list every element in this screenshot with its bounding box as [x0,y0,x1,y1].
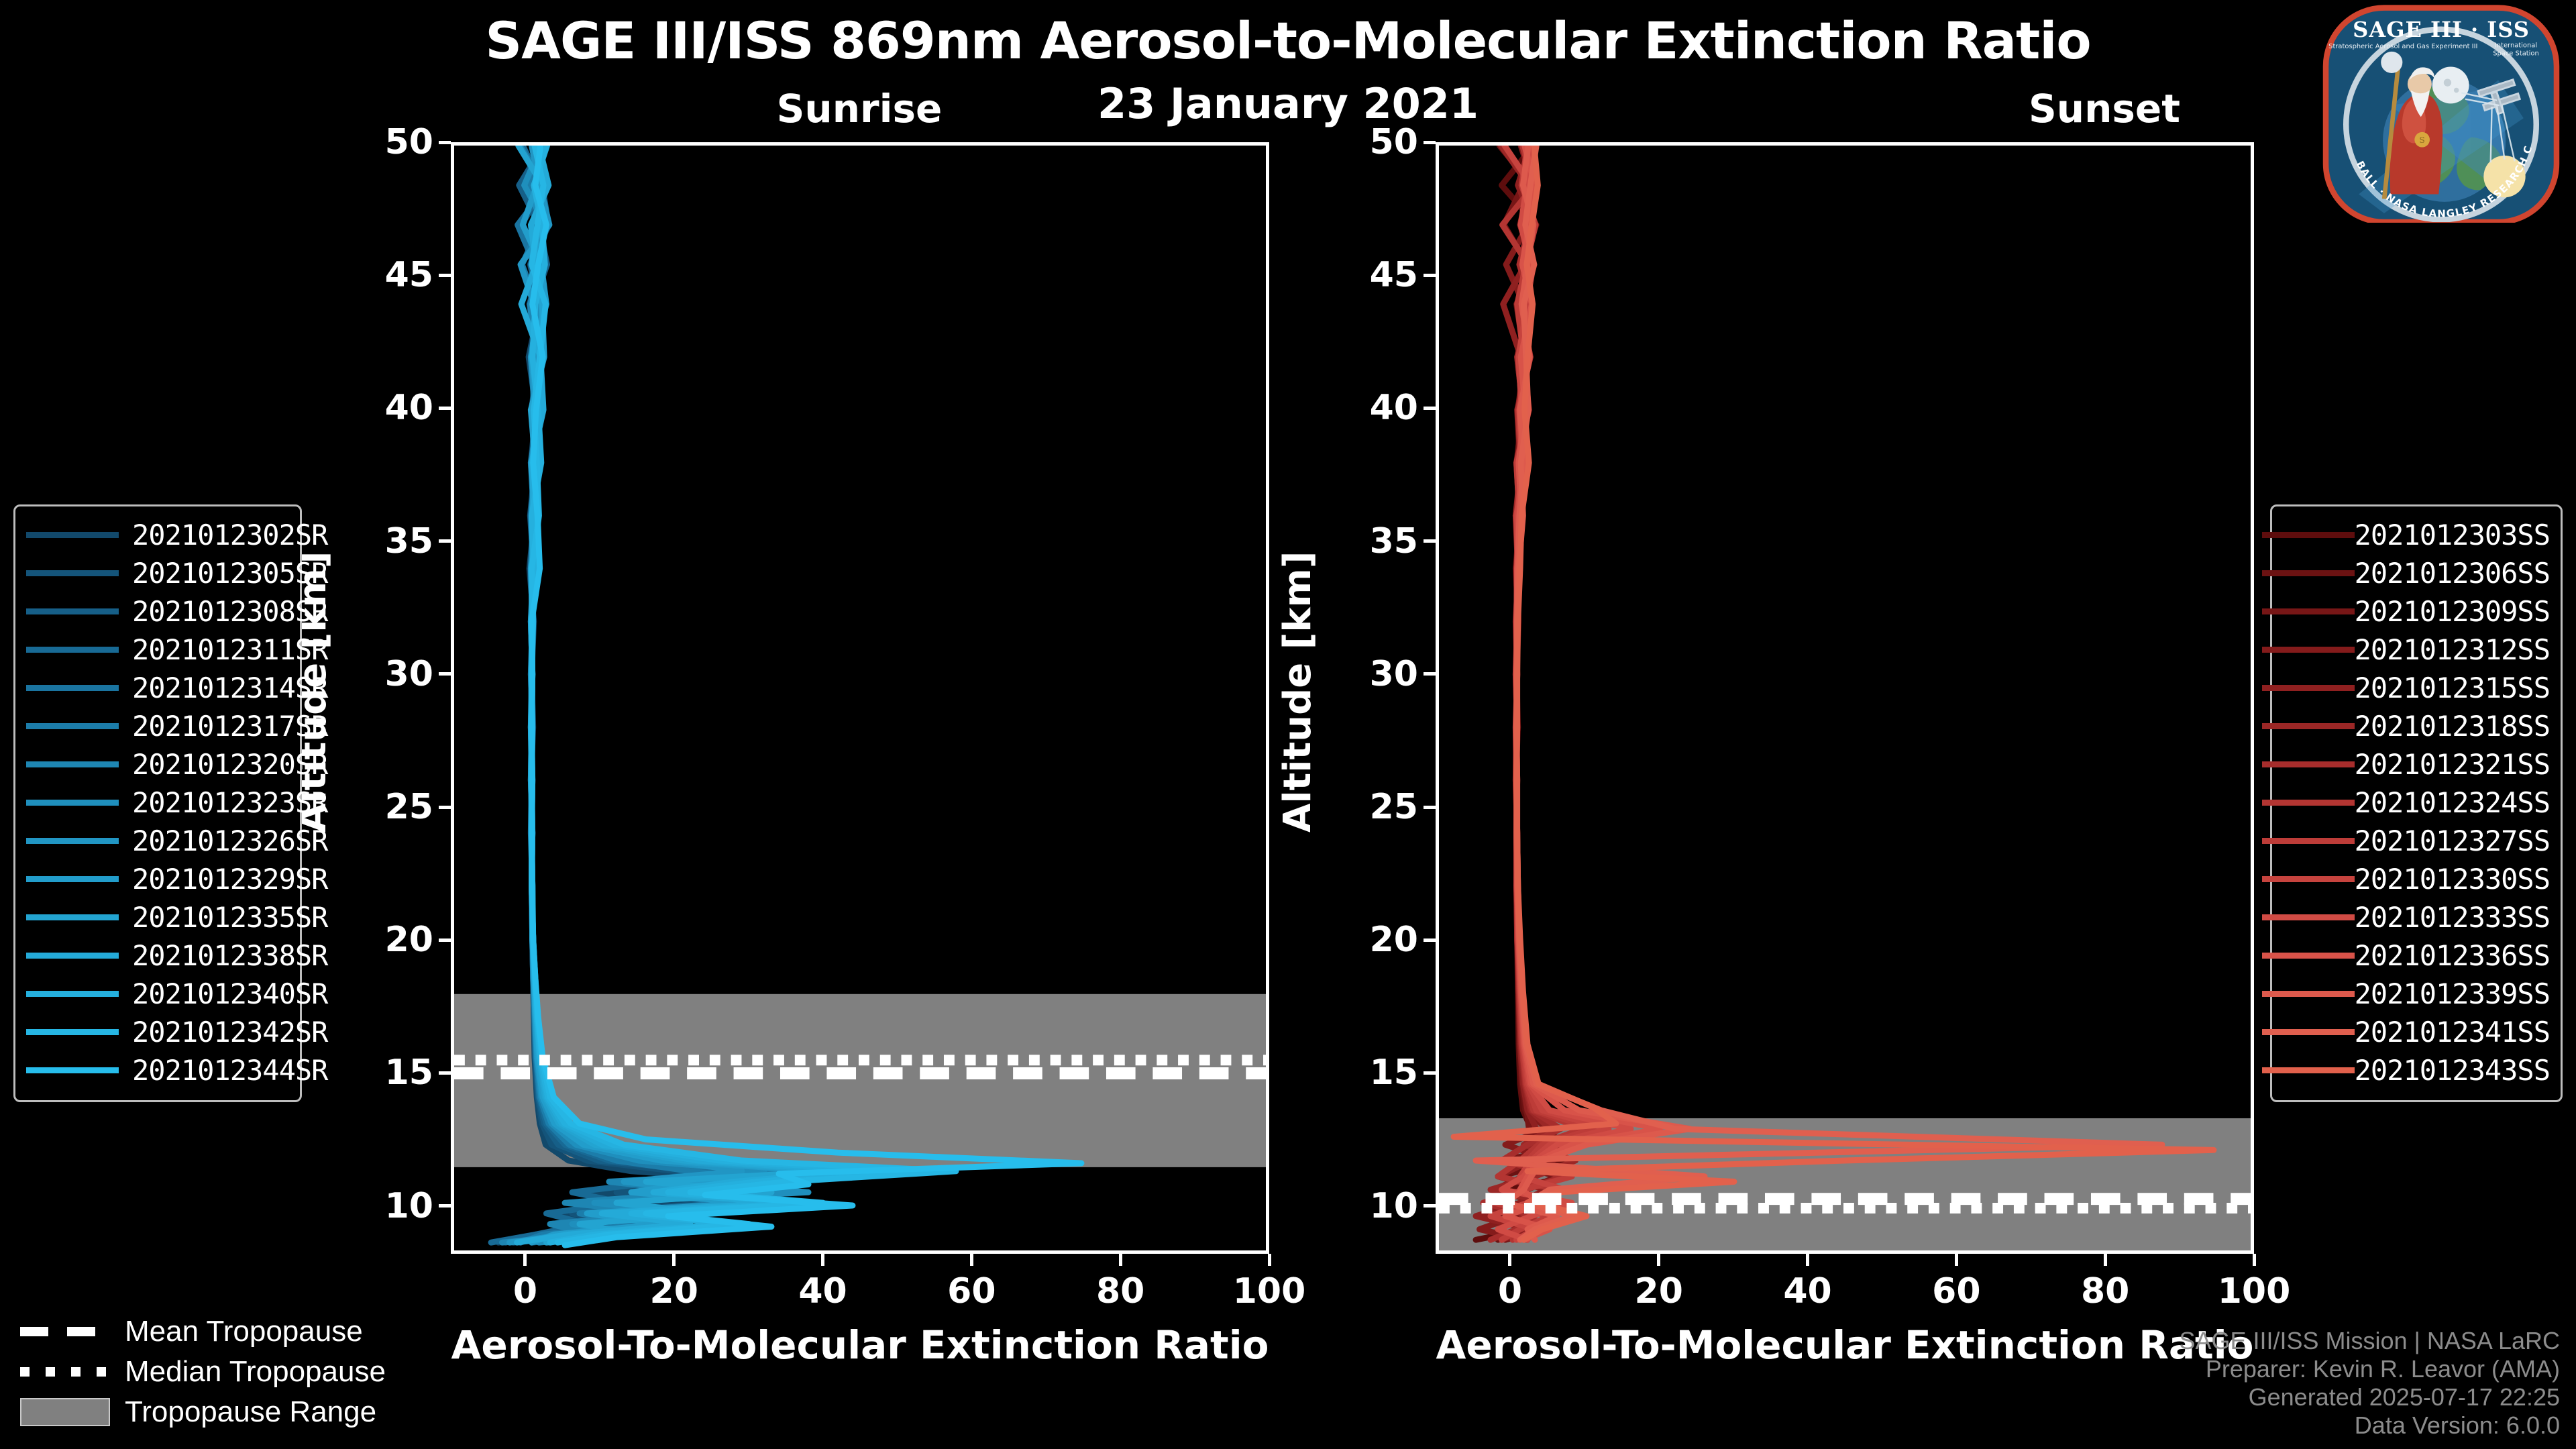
gray-band-icon [20,1400,107,1424]
tropopause-range-label: Tropopause Range [125,1395,376,1429]
credits-data-version: Data Version: 6.0.0 [2179,1411,2560,1440]
x-axis-tick-mark [523,1254,527,1266]
legend-item[interactable]: 2021012329SR [26,860,289,898]
y-axis-tick-mark [439,407,451,410]
legend-item[interactable]: 2021012308SR [26,592,289,631]
legend-item[interactable]: 2021012343SS [2283,1051,2550,1089]
y-axis-tick-label: 50 [1304,122,1418,162]
mean-tropopause-key: Mean Tropopause [20,1311,436,1352]
legend-color-swatch [2262,1029,2355,1035]
legend-item-label: 2021012305SR [132,557,327,590]
profile-line [1505,146,1660,1240]
y-axis-tick-label: 40 [319,388,433,428]
legend-color-swatch [2262,914,2355,920]
legend-item-label: 2021012302SR [132,519,327,551]
legend-item[interactable]: 2021012318SS [2283,707,2550,745]
legend-item-label: 2021012339SS [2355,977,2550,1010]
sunset-event-legend: 2021012303SS2021012306SS2021012309SS2021… [2270,504,2563,1102]
y-axis-tick-label: 15 [319,1053,433,1093]
y-axis-tick-mark [439,141,451,144]
sunrise-plot-area [451,142,1269,1254]
x-axis-tick-mark [2253,1254,2256,1266]
y-axis-tick-label: 10 [1304,1186,1418,1226]
legend-item[interactable]: 2021012330SS [2283,860,2550,898]
credits-generated: Generated 2025-07-17 22:25 [2179,1383,2560,1411]
legend-item-label: 2021012326SR [132,824,327,857]
tropopause-legend: Mean Tropopause Median Tropopause Tropop… [20,1311,436,1432]
legend-item[interactable]: 2021012335SR [26,898,289,936]
y-axis-tick-label: 25 [319,787,433,827]
x-axis-tick-mark [672,1254,676,1266]
tropopause-range-key: Tropopause Range [20,1392,436,1432]
legend-color-swatch [26,1067,119,1073]
legend-color-swatch [2262,953,2355,959]
legend-item-label: 2021012340SR [132,977,327,1010]
x-axis-tick-mark [1955,1254,1958,1266]
x-axis-tick-label: 20 [1592,1271,1726,1311]
legend-item-label: 2021012344SR [132,1054,327,1087]
svg-text:S: S [2419,136,2424,145]
legend-item[interactable]: 2021012309SS [2283,592,2550,631]
y-axis-tick-mark [439,1204,451,1207]
sage3-iss-mission-patch-logo: S SAGE III · ISS Stratospheric Aerosol a… [2314,4,2568,223]
x-axis-tick-mark [1119,1254,1122,1266]
y-axis-tick-mark [439,1071,451,1075]
legend-item-label: 2021012333SS [2355,901,2550,934]
profile-line [1454,146,2214,1240]
y-axis-tick-label: 40 [1304,388,1418,428]
y-axis-tick-mark [1424,1071,1436,1075]
legend-color-swatch [2262,723,2355,729]
legend-color-swatch [26,800,119,806]
y-axis-tick-label: 20 [319,920,433,960]
x-axis-tick-label: 80 [2038,1271,2172,1311]
x-axis-tick-label: 0 [458,1271,592,1311]
y-axis-tick-label: 35 [1304,521,1418,561]
legend-color-swatch [26,991,119,997]
x-axis-tick-label: 40 [756,1271,890,1311]
legend-item-label: 2021012312SS [2355,633,2550,666]
x-axis-tick-label: 60 [1889,1271,2023,1311]
legend-item[interactable]: 2021012305SR [26,554,289,592]
legend-item-label: 2021012330SS [2355,863,2550,896]
y-axis-tick-mark [439,938,451,942]
profile-line [1498,146,1583,1240]
credits-mission: SAGE III/ISS Mission | NASA LaRC [2179,1327,2560,1355]
legend-color-swatch [26,761,119,767]
y-axis-tick-label: 30 [1304,654,1418,694]
legend-item[interactable]: 2021012320SR [26,745,289,784]
profile-line [1495,146,1594,1240]
svg-text:Space Station: Space Station [2493,50,2539,58]
y-axis-tick-mark [1424,274,1436,277]
sunrise-panel-title: Sunrise [685,86,1034,131]
legend-color-swatch [26,838,119,844]
legend-item[interactable]: 2021012321SS [2283,745,2550,784]
legend-item-label: 2021012311SR [132,633,327,666]
profile-plot-canvas [1439,146,2251,1250]
dotted-line-icon [20,1360,107,1384]
legend-item-label: 2021012329SR [132,863,327,896]
legend-color-swatch [2262,647,2355,653]
legend-item-label: 2021012327SS [2355,824,2550,857]
dashed-line-icon [20,1320,107,1344]
x-axis-tick-mark [970,1254,973,1266]
legend-item-label: 2021012306SS [2355,557,2550,590]
legend-item[interactable]: 2021012306SS [2283,554,2550,592]
legend-color-swatch [26,570,119,576]
legend-item[interactable]: 2021012344SR [26,1051,289,1089]
legend-color-swatch [26,1029,119,1035]
x-axis-tick-label: 20 [607,1271,741,1311]
median-tropopause-label: Median Tropopause [125,1355,386,1389]
legend-item-label: 2021012336SS [2355,939,2550,972]
legend-item-label: 2021012338SR [132,939,327,972]
y-axis-tick-mark [1424,1204,1436,1207]
legend-item[interactable]: 2021012342SR [26,1013,289,1051]
legend-item-label: 2021012318SS [2355,710,2550,743]
legend-item-label: 2021012343SS [2355,1054,2550,1087]
x-axis-tick-label: 100 [2187,1271,2321,1311]
legend-item-label: 2021012308SR [132,595,327,628]
legend-item[interactable]: 2021012317SR [26,707,289,745]
x-axis-title: Aerosol-To-Molecular Extinction Ratio [1436,1322,2254,1368]
page-title: SAGE III/ISS 869nm Aerosol-to-Molecular … [0,11,2576,70]
x-axis-tick-mark [821,1254,824,1266]
x-axis-tick-mark [1268,1254,1271,1266]
legend-item[interactable]: 2021012327SS [2283,822,2550,860]
legend-color-swatch [2262,761,2355,767]
x-axis-tick-mark [1508,1254,1511,1266]
legend-item[interactable]: 2021012340SR [26,975,289,1013]
legend-item-label: 2021012315SS [2355,672,2550,704]
y-axis-tick-mark [439,539,451,543]
y-axis-tick-label: 45 [1304,255,1418,295]
svg-text:Stratospheric Aerosol and Gas: Stratospheric Aerosol and Gas Experiment… [2328,43,2477,50]
x-axis-tick-mark [1806,1254,1809,1266]
legend-color-swatch [26,723,119,729]
x-axis-title: Aerosol-To-Molecular Extinction Ratio [451,1322,1269,1368]
legend-color-swatch [26,608,119,614]
legend-color-swatch [2262,838,2355,844]
legend-item[interactable]: 2021012324SS [2283,784,2550,822]
legend-item[interactable]: 2021012341SS [2283,1013,2550,1051]
legend-item[interactable]: 2021012336SS [2283,936,2550,975]
legend-item[interactable]: 2021012311SR [26,631,289,669]
sunrise-event-legend: 2021012302SR2021012305SR2021012308SR2021… [13,504,302,1102]
legend-color-swatch [26,953,119,959]
legend-item-label: 2021012303SS [2355,519,2550,551]
profile-plot-canvas [454,146,1266,1250]
legend-color-swatch [26,685,119,691]
legend-color-swatch [2262,991,2355,997]
x-axis-tick-mark [2104,1254,2107,1266]
y-axis-tick-label: 50 [319,122,433,162]
y-axis-tick-mark [439,274,451,277]
x-axis-tick-label: 100 [1202,1271,1336,1311]
sunset-panel-title: Sunset [1930,86,2279,131]
x-axis-tick-label: 80 [1053,1271,1187,1311]
legend-item-label: 2021012335SR [132,901,327,934]
legend-item-label: 2021012341SS [2355,1016,2550,1049]
y-axis-tick-mark [1424,938,1436,942]
legend-item[interactable]: 2021012326SR [26,822,289,860]
y-axis-tick-mark [1424,672,1436,676]
legend-color-swatch [2262,800,2355,806]
y-axis-tick-mark [1424,407,1436,410]
legend-color-swatch [2262,685,2355,691]
y-axis-tick-label: 10 [319,1186,433,1226]
legend-item[interactable]: 2021012339SS [2283,975,2550,1013]
credits-block: SAGE III/ISS Mission | NASA LaRC Prepare… [2179,1327,2560,1440]
y-axis-tick-mark [1424,806,1436,809]
profile-line [1476,146,2162,1240]
x-axis-tick-mark [1657,1254,1660,1266]
svg-text:SAGE III · ISS: SAGE III · ISS [2353,17,2530,42]
legend-color-swatch [2262,532,2355,538]
legend-color-swatch [2262,876,2355,882]
legend-color-swatch [2262,1067,2355,1073]
mean-tropopause-label: Mean Tropopause [125,1315,363,1348]
legend-item[interactable]: 2021012323SR [26,784,289,822]
sunset-plot-area [1436,142,2254,1254]
legend-color-swatch [26,532,119,538]
legend-item[interactable]: 2021012312SS [2283,631,2550,669]
legend-item-label: 2021012323SR [132,786,327,819]
legend-color-swatch [2262,570,2355,576]
legend-item[interactable]: 2021012303SS [2283,516,2550,554]
legend-item[interactable]: 2021012338SR [26,936,289,975]
legend-item-label: 2021012324SS [2355,786,2550,819]
legend-item-label: 2021012317SR [132,710,327,743]
legend-item[interactable]: 2021012302SR [26,516,289,554]
y-axis-tick-label: 30 [319,654,433,694]
y-axis-tick-mark [439,806,451,809]
legend-item-label: 2021012342SR [132,1016,327,1049]
legend-item-label: 2021012320SR [132,748,327,781]
legend-item-label: 2021012321SS [2355,748,2550,781]
legend-color-swatch [2262,608,2355,614]
y-axis-tick-mark [1424,141,1436,144]
legend-item[interactable]: 2021012314SR [26,669,289,707]
x-axis-tick-label: 40 [1741,1271,1875,1311]
profile-line [1491,146,1609,1240]
legend-item-label: 2021012309SS [2355,595,2550,628]
credits-preparer: Preparer: Kevin R. Leavor (AMA) [2179,1355,2560,1383]
legend-color-swatch [26,647,119,653]
y-axis-tick-mark [439,672,451,676]
y-axis-tick-label: 25 [1304,787,1418,827]
legend-color-swatch [26,876,119,882]
y-axis-tick-mark [1424,539,1436,543]
y-axis-tick-label: 35 [319,521,433,561]
legend-item-label: 2021012314SR [132,672,327,704]
legend-item[interactable]: 2021012333SS [2283,898,2550,936]
legend-item[interactable]: 2021012315SS [2283,669,2550,707]
legend-color-swatch [26,914,119,920]
y-axis-tick-label: 15 [1304,1053,1418,1093]
y-axis-title: Altitude [km] [1276,551,1320,832]
x-axis-tick-label: 60 [904,1271,1038,1311]
y-axis-tick-label: 45 [319,255,433,295]
y-axis-tick-label: 20 [1304,920,1418,960]
median-tropopause-key: Median Tropopause [20,1352,436,1392]
x-axis-tick-label: 0 [1443,1271,1577,1311]
svg-text:International: International [2495,42,2537,49]
